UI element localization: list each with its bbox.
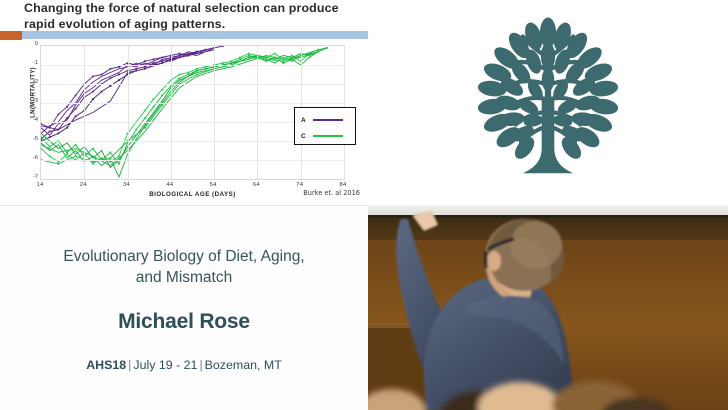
chart-x-tick-label: 44 bbox=[166, 182, 173, 188]
chart-data-point bbox=[153, 106, 155, 108]
chart-data-point bbox=[66, 153, 68, 155]
chart-data-point bbox=[161, 104, 163, 106]
tree-logo-icon bbox=[458, 13, 638, 193]
chart-data-point bbox=[118, 163, 120, 165]
chart-data-point bbox=[92, 76, 94, 78]
chart-x-tick-label: 84 bbox=[339, 182, 346, 188]
chart-data-point bbox=[153, 62, 155, 64]
chart-data-point bbox=[75, 144, 77, 146]
chart-x-tick-label: 64 bbox=[253, 182, 260, 188]
chart-y-tick-label: -7 bbox=[22, 174, 38, 180]
chart-data-point bbox=[135, 129, 137, 131]
chart-data-point bbox=[291, 55, 293, 57]
chart-data-point bbox=[75, 95, 77, 97]
chart-data-point bbox=[239, 57, 241, 59]
chart-legend-item: A bbox=[301, 114, 343, 126]
chart-gridline-horizontal bbox=[41, 160, 344, 161]
chart-data-point bbox=[101, 91, 103, 93]
chart-legend-item: C bbox=[301, 130, 343, 142]
chart-data-point bbox=[101, 74, 103, 76]
chart-data-point bbox=[187, 72, 189, 74]
chart-data-point bbox=[66, 127, 68, 129]
chart-data-point bbox=[57, 114, 59, 116]
chart-x-tick-label: 24 bbox=[80, 182, 87, 188]
chart-y-tick-label: -3 bbox=[22, 98, 38, 104]
chart-data-point bbox=[41, 123, 42, 125]
chart-data-point bbox=[317, 49, 319, 51]
chart-data-point bbox=[49, 131, 51, 133]
chart-data-point bbox=[118, 79, 120, 81]
event-separator-2: | bbox=[197, 358, 204, 372]
video-player-frame: Changing the force of natural selection … bbox=[0, 0, 728, 410]
chart-legend-label: A bbox=[301, 117, 313, 124]
chart-data-point bbox=[75, 155, 77, 157]
speaker-name: Michael Rose bbox=[26, 310, 342, 334]
chart-data-point bbox=[57, 163, 59, 165]
chart-data-point bbox=[179, 55, 181, 57]
chart-y-tick-label: -5 bbox=[22, 136, 38, 142]
chart-x-axis-label: BIOLOGICAL AGE (DAYS) bbox=[40, 191, 345, 198]
chart-data-point bbox=[248, 55, 250, 57]
talk-title-line1: Evolutionary Biology of Diet, Aging, bbox=[63, 248, 304, 265]
chart-y-tick-label: -4 bbox=[22, 117, 38, 123]
chart-data-point bbox=[109, 68, 111, 70]
tree-leaf bbox=[541, 42, 555, 69]
chart-data-point bbox=[196, 51, 198, 53]
chart-data-point bbox=[118, 74, 120, 76]
conference-logo-panel bbox=[368, 0, 728, 205]
chart-data-point bbox=[118, 66, 120, 68]
talk-title: Evolutionary Biology of Diet, Aging, and… bbox=[26, 246, 342, 288]
chart-data-point bbox=[205, 66, 207, 68]
chart-data-point bbox=[179, 74, 181, 76]
chart-data-point bbox=[222, 62, 224, 64]
chart-data-point bbox=[161, 60, 163, 62]
chart-data-point bbox=[118, 155, 120, 157]
speaker-video-feed[interactable] bbox=[368, 205, 728, 410]
chart-data-point bbox=[75, 115, 77, 117]
chart-data-point bbox=[41, 148, 42, 150]
chart-data-point bbox=[49, 146, 51, 148]
chart-gridline-horizontal bbox=[41, 103, 344, 104]
chart-data-point bbox=[144, 117, 146, 119]
chart-data-point bbox=[187, 74, 189, 76]
event-details: AHS18|July 19 - 21|Bozeman, MT bbox=[26, 358, 342, 372]
talk-title-line2: and Mismatch bbox=[136, 269, 232, 286]
chart-data-point bbox=[248, 53, 250, 55]
chart-y-axis-ticks: 0-1-2-3-4-5-6-7 bbox=[18, 41, 38, 184]
chart-legend-label: C bbox=[301, 133, 313, 140]
chart-data-point bbox=[309, 57, 311, 59]
chart-data-point bbox=[179, 77, 181, 79]
chart-data-point bbox=[92, 98, 94, 100]
slide-headline: Changing the force of natural selection … bbox=[24, 1, 354, 32]
chart-data-point bbox=[196, 68, 198, 70]
chart-data-point bbox=[109, 161, 111, 163]
chart-data-point bbox=[283, 62, 285, 64]
chart-data-point bbox=[326, 47, 328, 49]
chart-gridline-horizontal bbox=[41, 65, 344, 66]
chart-data-point bbox=[248, 57, 250, 59]
chart-series-line bbox=[41, 54, 309, 164]
chart-data-point bbox=[109, 157, 111, 159]
chart-data-point bbox=[66, 152, 68, 154]
chart-legend-swatch bbox=[313, 135, 343, 137]
chart-data-point bbox=[179, 53, 181, 55]
event-dates: July 19 - 21 bbox=[133, 358, 197, 372]
blue-accent-bar bbox=[22, 31, 368, 39]
chart-data-point bbox=[283, 60, 285, 62]
chart-data-point bbox=[92, 163, 94, 165]
chart-data-point bbox=[92, 91, 94, 93]
chart-data-point bbox=[92, 148, 94, 150]
chart-gridline-vertical bbox=[171, 46, 172, 179]
speaker-video-image bbox=[368, 205, 728, 410]
chart-x-tick-label: 14 bbox=[36, 182, 43, 188]
tree-leaf bbox=[542, 67, 555, 90]
chart-data-point bbox=[144, 66, 146, 68]
presentation-title-slide: Evolutionary Biology of Diet, Aging, and… bbox=[0, 205, 368, 410]
chart-y-tick-label: -6 bbox=[22, 155, 38, 161]
chart-series-line bbox=[41, 46, 223, 128]
chart-citation: Burke et. al 2016 bbox=[303, 189, 360, 197]
orange-accent-marker bbox=[0, 31, 22, 40]
chart-data-point bbox=[231, 60, 233, 62]
chart-legend: AC bbox=[294, 107, 356, 145]
chart-data-point bbox=[144, 60, 146, 62]
chart-plot-area: AC bbox=[40, 45, 345, 180]
chart-data-point bbox=[222, 46, 224, 47]
chart-data-point bbox=[109, 85, 111, 87]
chart-x-tick-label: 74 bbox=[296, 182, 303, 188]
chart-data-point bbox=[161, 89, 163, 91]
chart-data-point bbox=[49, 136, 51, 138]
chart-data-point bbox=[49, 155, 51, 157]
chart-data-point bbox=[92, 161, 94, 163]
chart-legend-swatch bbox=[313, 119, 343, 121]
chart-data-point bbox=[109, 77, 111, 79]
chart-data-point bbox=[101, 157, 103, 159]
chart-data-point bbox=[144, 110, 146, 112]
chart-data-point bbox=[57, 133, 59, 135]
chart-y-tick-label: -2 bbox=[22, 79, 38, 85]
chart-data-point bbox=[41, 136, 42, 138]
chart-gridline-vertical bbox=[214, 46, 215, 179]
chart-x-tick-label: 54 bbox=[210, 182, 217, 188]
mortality-chart: LN(MORTALITY) 0-1-2-3-4-5-6-7 AC 1424344… bbox=[8, 41, 364, 203]
chart-gridline-vertical bbox=[257, 46, 258, 179]
chart-data-point bbox=[75, 108, 77, 110]
chart-data-point bbox=[239, 58, 241, 60]
chart-data-point bbox=[144, 127, 146, 129]
chart-data-point bbox=[57, 161, 59, 163]
chart-data-point bbox=[274, 53, 276, 55]
chart-data-point bbox=[205, 49, 207, 51]
chart-data-point bbox=[109, 152, 111, 154]
chart-y-tick-label: -1 bbox=[22, 60, 38, 66]
chart-x-tick-label: 34 bbox=[123, 182, 130, 188]
chart-gridline-vertical bbox=[128, 46, 129, 179]
presentation-slide-chart: Changing the force of natural selection … bbox=[0, 0, 368, 205]
chart-data-point bbox=[153, 58, 155, 60]
chart-gridline-horizontal bbox=[41, 84, 344, 85]
chart-data-point bbox=[66, 106, 68, 108]
chart-data-point bbox=[153, 98, 155, 100]
chart-gridline-vertical bbox=[84, 46, 85, 179]
chart-data-point bbox=[265, 58, 267, 60]
chart-data-point bbox=[265, 60, 267, 62]
chart-data-point bbox=[135, 68, 137, 70]
chart-y-tick-label: 0 bbox=[22, 41, 38, 47]
event-code: AHS18 bbox=[86, 358, 126, 372]
chart-data-point bbox=[196, 74, 198, 76]
chart-data-point bbox=[161, 95, 163, 97]
event-location: Bozeman, MT bbox=[205, 358, 282, 372]
